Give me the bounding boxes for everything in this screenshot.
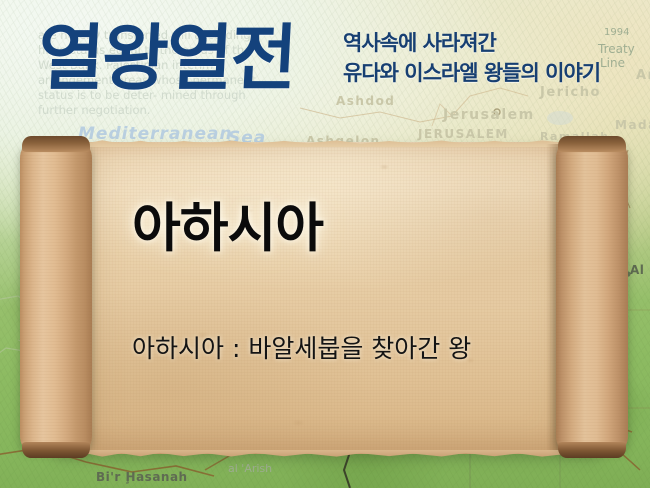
parchment-scroll: 아하시아 아하시아 : 바알세붑을 찾아간 왕 xyxy=(0,136,650,458)
scroll-roll-left xyxy=(20,136,92,458)
slide-subtitle: 아하시아 : 바알세붑을 찾아간 왕 xyxy=(0,332,650,366)
tagline-line-1: 역사속에 사라져간 xyxy=(343,28,600,58)
scroll-roll-left-grain xyxy=(20,144,92,450)
tagline-line-2: 유다와 이스라엘 왕들의 이야기 xyxy=(343,58,600,88)
scroll-roll-right-cap-bottom xyxy=(558,442,626,458)
slide-root: are hereby transferred will accordingly … xyxy=(0,0,650,488)
brand-logo: 열왕열전 xyxy=(36,16,297,100)
scroll-roll-right-cap-top xyxy=(558,136,626,152)
scroll-roll-left-cap-bottom xyxy=(22,442,90,458)
scroll-roll-left-cap-top xyxy=(22,136,90,152)
scroll-roll-right-body xyxy=(556,144,628,450)
scroll-sheet xyxy=(88,142,566,454)
scroll-paper-spots xyxy=(88,142,566,454)
header-tagline: 역사속에 사라져간 유다와 이스라엘 왕들의 이야기 xyxy=(343,28,600,88)
slide-title: 아하시아 xyxy=(0,198,650,260)
scroll-roll-left-body xyxy=(20,144,92,450)
scroll-roll-right xyxy=(556,136,628,458)
scroll-roll-right-grain xyxy=(556,144,628,450)
